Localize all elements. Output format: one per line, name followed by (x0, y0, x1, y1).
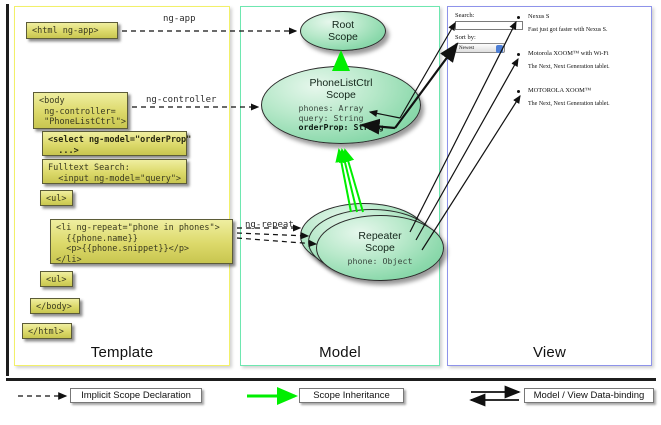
legend-item-model-view-data-binding: Model / View Data-binding (524, 388, 654, 403)
view-search-label: Search: (455, 12, 475, 19)
view-phone-name-0: Nexus S (528, 13, 608, 20)
view-phone-item-1: Motorola XOOM™ with Wi-Fi The Next, Next… (517, 50, 610, 70)
code-block-body-open: <body ng-controller= "PhoneListCtrl"> (33, 92, 128, 129)
view-phone-snippet-1: The Next, Next Generation tablet. (528, 64, 610, 70)
scope-repeater-title-line1: Repeater (358, 230, 401, 242)
legend-glyph-databinding (471, 392, 519, 400)
code-block-html-open: <html ng-app> (26, 22, 118, 39)
view-sort-value: Newest (459, 46, 474, 51)
panel-model: Model (240, 6, 440, 366)
view-phone-name-2: MOTOROLA XOOM™ (528, 87, 610, 94)
view-search-input[interactable] (455, 21, 523, 30)
code-block-html-close: </html> (22, 323, 72, 339)
code-block-body-close: </body> (30, 298, 80, 314)
view-phone-name-1: Motorola XOOM™ with Wi-Fi (528, 50, 610, 57)
legend-item-implicit-scope-declaration: Implicit Scope Declaration (70, 388, 202, 403)
chevron-down-icon (496, 45, 503, 53)
view-sort-label: Sort by: (455, 34, 476, 41)
scope-root: Root Scope (300, 11, 386, 51)
panel-view-label: View (448, 344, 651, 361)
bullet-icon (517, 53, 520, 56)
view-phone-item-2: MOTOROLA XOOM™ The Next, Next Generation… (517, 87, 610, 107)
view-phone-snippet-2: The Next, Next Generation tablet. (528, 101, 610, 107)
scope-repeater-props: phone: Object (348, 257, 413, 267)
view-mockup: Search: Sort by: Newest Nexus S Fast jus… (455, 12, 645, 122)
diagram-canvas: Template Model View <html ng-app> <body … (0, 0, 661, 425)
scope-root-title-line1: Root (332, 19, 354, 31)
view-phone-snippet-0: Fast just got faster with Nexus S. (528, 27, 608, 33)
edge-label-ng-app: ng-app (163, 14, 196, 24)
scope-repeater: Repeater Scope phone: Object (316, 215, 444, 281)
scope-phonelistctrl-title-line1: PhoneListCtrl (309, 77, 372, 89)
bullet-icon (517, 16, 520, 19)
code-block-ul-close: <ul> (40, 271, 73, 287)
panel-template-label: Template (15, 344, 229, 361)
scope-root-title: Root Scope (328, 19, 358, 43)
scope-phonelistctrl-title: PhoneListCtrl Scope (309, 77, 372, 101)
scope-prop-orderprop: orderProp: String (299, 122, 384, 132)
legend-item-scope-inheritance: Scope Inheritance (299, 388, 404, 403)
view-sort-select[interactable]: Newest (455, 43, 505, 53)
panel-model-label: Model (241, 344, 439, 361)
scope-phonelistctrl-props: phones: Array query: String orderProp: S… (299, 104, 384, 133)
scope-repeater-title: Repeater Scope (358, 230, 401, 254)
bullet-icon (517, 90, 520, 93)
code-block-input: Fulltext Search: <input ng-model="query"… (42, 159, 187, 184)
scope-root-title-line2: Scope (328, 31, 358, 43)
scope-repeater-title-line2: Scope (365, 242, 395, 254)
code-block-li-repeat: <li ng-repeat="phone in phones"> {{phone… (50, 219, 233, 264)
scope-prop-phone: phone: Object (348, 257, 413, 267)
view-phone-item-0: Nexus S Fast just got faster with Nexus … (517, 13, 608, 33)
code-block-select: <select ng-model="orderProp" ...> (42, 131, 187, 156)
code-block-ul-open: <ul> (40, 190, 73, 206)
edge-label-ng-controller: ng-controller (146, 95, 216, 105)
scope-phonelistctrl-title-line2: Scope (326, 89, 356, 101)
edge-label-ng-repeat: ng-repeat (245, 220, 294, 230)
scope-phonelistctrl: PhoneListCtrl Scope phones: Array query:… (261, 66, 421, 144)
legend-divider (6, 378, 656, 381)
